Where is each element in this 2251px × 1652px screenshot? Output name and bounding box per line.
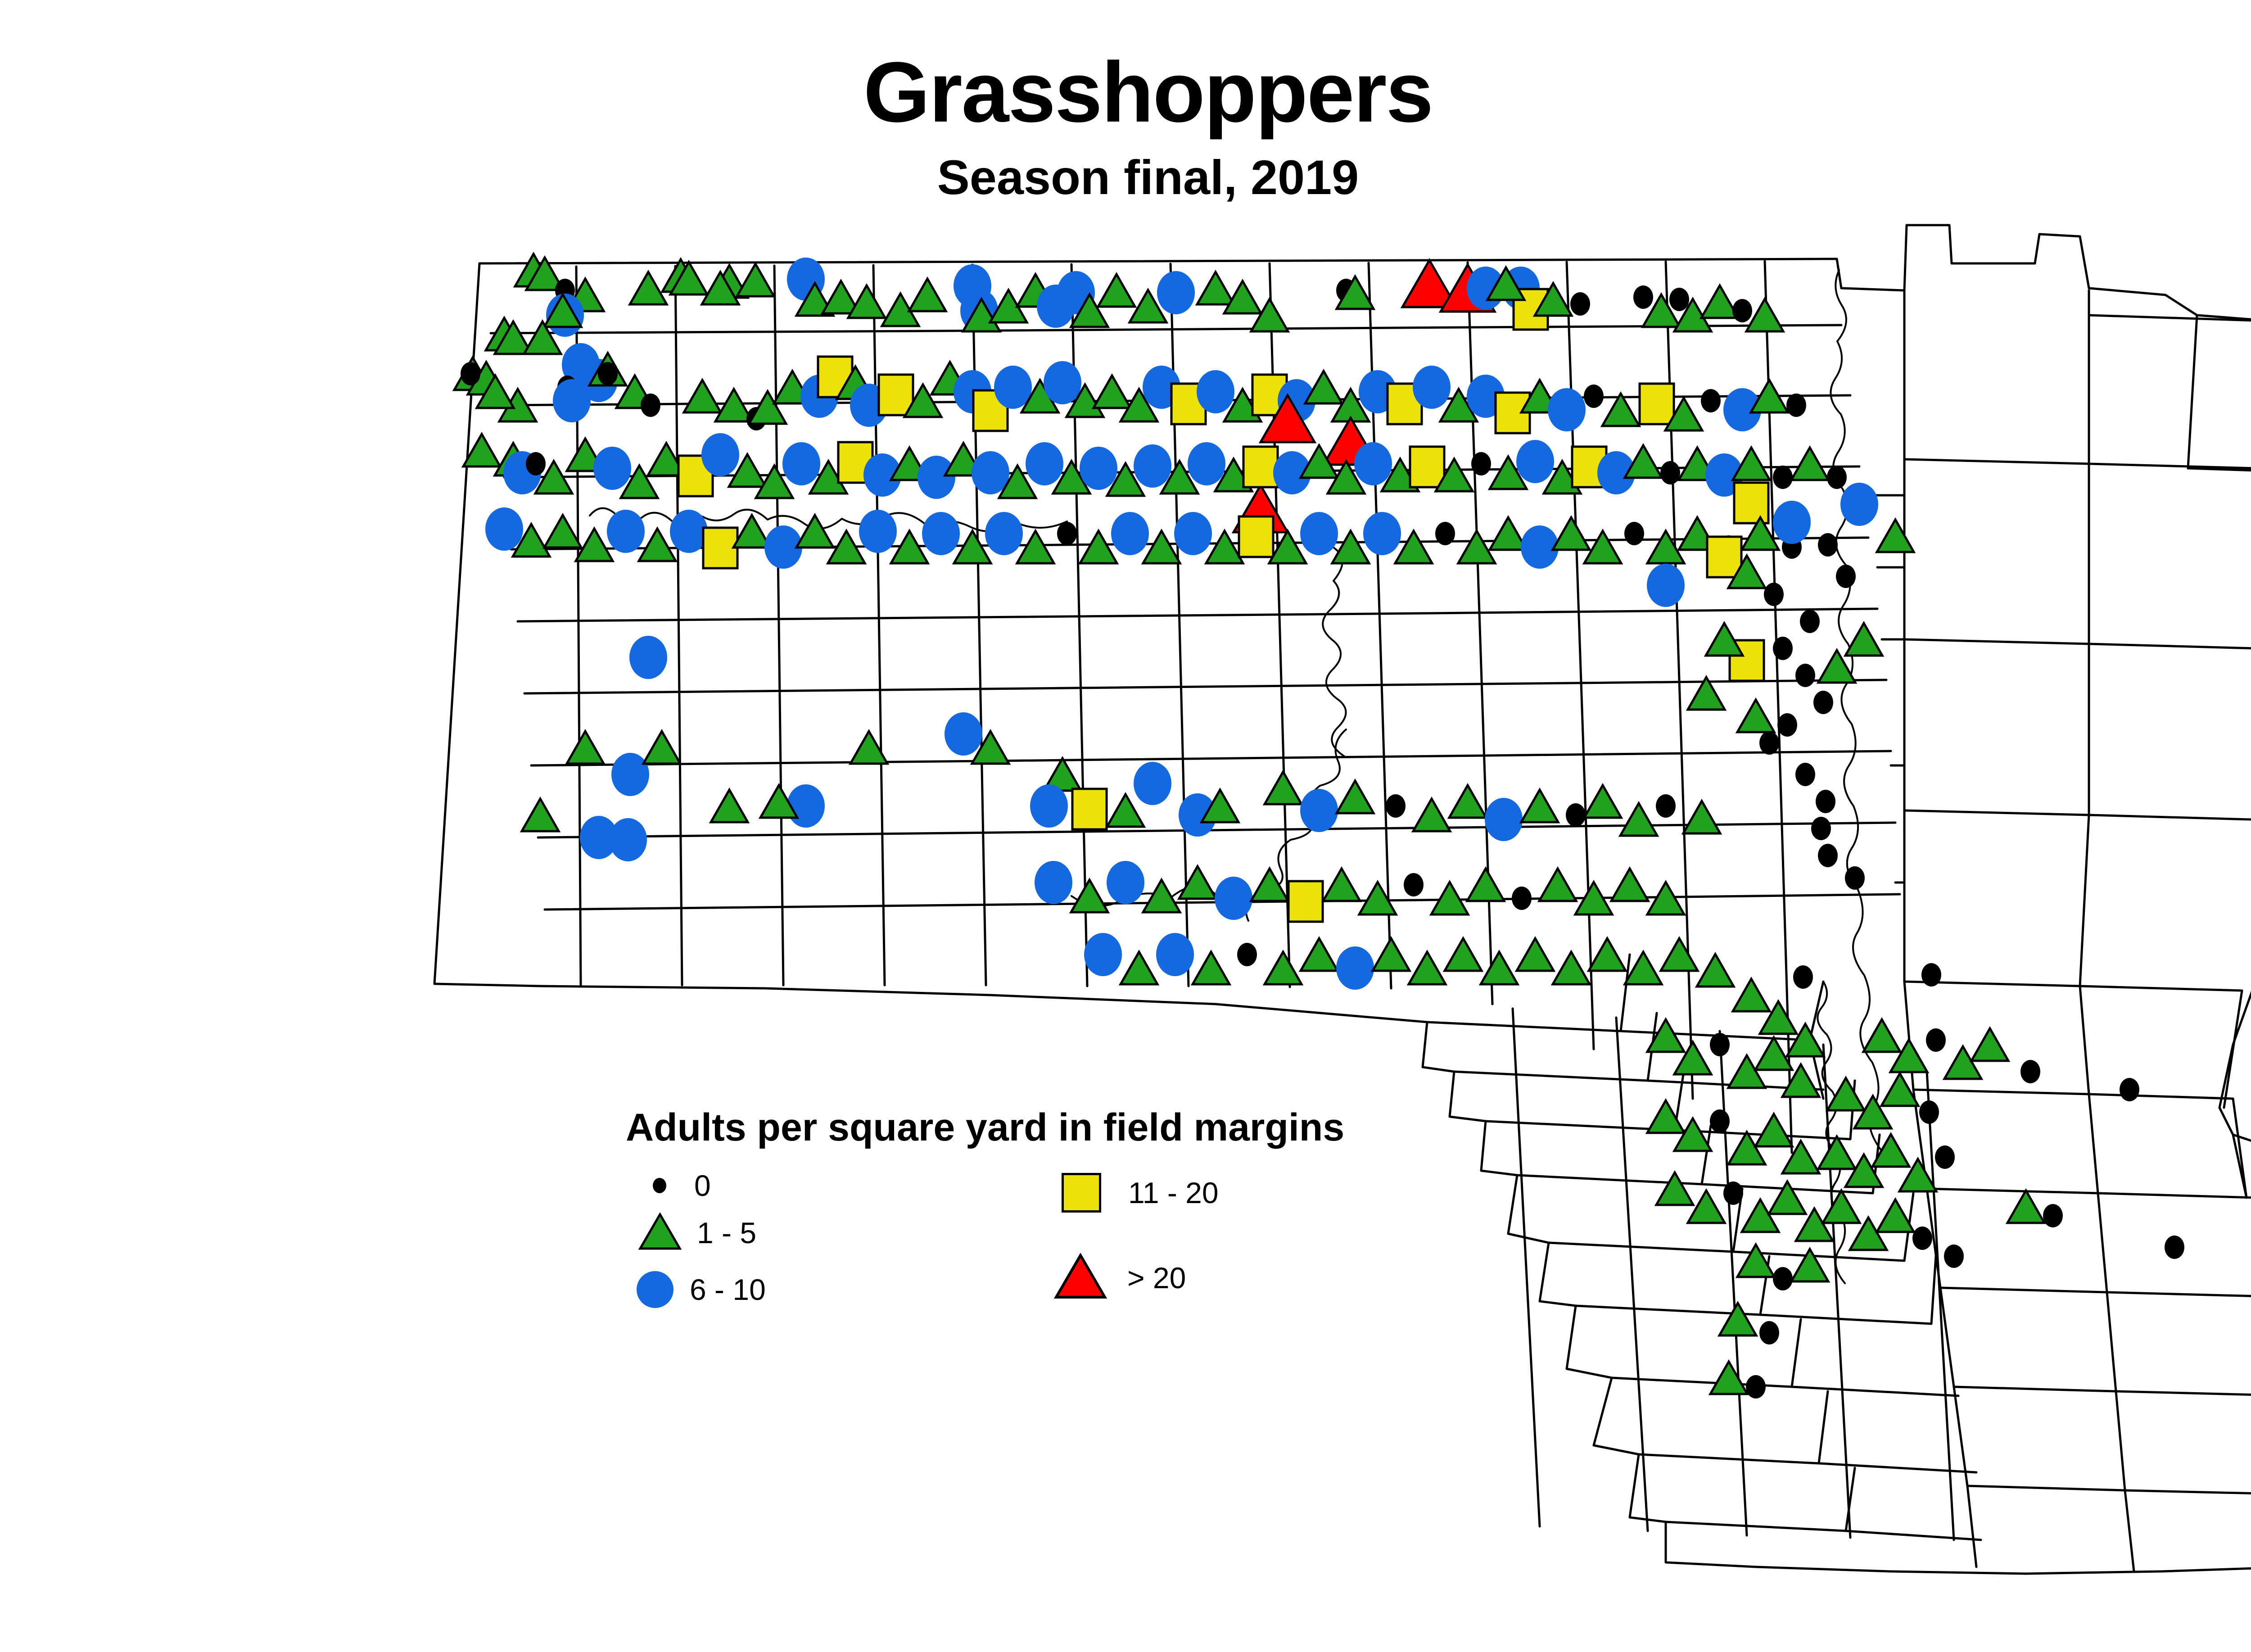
map-marker[interactable] bbox=[796, 515, 833, 548]
map-marker[interactable] bbox=[629, 636, 667, 679]
map-marker[interactable] bbox=[1288, 881, 1323, 922]
map-marker[interactable] bbox=[1539, 869, 1576, 901]
map-marker[interactable] bbox=[1791, 448, 1828, 480]
map-marker[interactable] bbox=[1620, 803, 1657, 836]
map-marker[interactable] bbox=[1156, 933, 1194, 976]
map-marker[interactable] bbox=[1710, 1033, 1730, 1056]
map-marker[interactable] bbox=[643, 731, 680, 764]
map-marker[interactable] bbox=[1337, 781, 1374, 813]
map-marker[interactable] bbox=[1811, 817, 1831, 840]
map-marker[interactable] bbox=[1300, 789, 1338, 832]
legend-title: Adults per square yard in field margins bbox=[626, 1105, 1344, 1150]
map-marker[interactable] bbox=[1553, 952, 1590, 984]
map-marker[interactable] bbox=[1661, 938, 1698, 971]
map-marker[interactable] bbox=[701, 433, 739, 476]
map-marker[interactable] bbox=[1548, 388, 1586, 431]
map-marker[interactable] bbox=[1243, 447, 1278, 487]
map-marker[interactable] bbox=[1584, 385, 1604, 408]
map-marker[interactable] bbox=[711, 790, 748, 822]
map-page: Grasshoppers Season final, 2019 bbox=[0, 0, 2251, 1652]
map-marker[interactable] bbox=[1435, 522, 1455, 545]
map-marker[interactable] bbox=[1404, 873, 1424, 896]
map-marker[interactable] bbox=[1793, 965, 1813, 989]
map-marker[interactable] bbox=[1215, 877, 1252, 920]
map-marker[interactable] bbox=[1773, 1267, 1793, 1290]
map-marker[interactable] bbox=[1827, 466, 1847, 489]
map-marker[interactable] bbox=[1566, 803, 1586, 827]
map-marker[interactable] bbox=[1759, 731, 1779, 755]
map-marker[interactable] bbox=[1354, 442, 1392, 485]
map-marker[interactable] bbox=[1773, 466, 1793, 489]
map-marker[interactable] bbox=[1795, 664, 1815, 687]
map-marker[interactable] bbox=[461, 362, 480, 385]
map-marker[interactable] bbox=[1701, 389, 1721, 412]
map-marker[interactable] bbox=[1719, 1303, 1756, 1335]
map-marker[interactable] bbox=[1237, 943, 1257, 966]
map-marker[interactable] bbox=[1755, 1114, 1792, 1146]
map-marker[interactable] bbox=[1656, 1172, 1693, 1205]
map-marker[interactable] bbox=[1413, 366, 1451, 409]
map-marker[interactable] bbox=[1485, 798, 1523, 841]
map-marker[interactable] bbox=[1517, 938, 1554, 971]
map-marker[interactable] bbox=[2043, 1204, 2063, 1227]
map-marker[interactable] bbox=[1919, 1100, 1939, 1124]
map-marker[interactable] bbox=[611, 753, 649, 796]
map-marker[interactable] bbox=[1737, 700, 1774, 732]
map-marker[interactable] bbox=[1795, 763, 1815, 786]
map-marker[interactable] bbox=[684, 380, 721, 412]
map-marker[interactable] bbox=[1633, 285, 1653, 309]
map-marker[interactable] bbox=[1481, 952, 1518, 984]
map-marker[interactable] bbox=[1143, 880, 1180, 912]
map-marker[interactable] bbox=[1818, 1136, 1855, 1169]
map-marker[interactable] bbox=[2007, 1190, 2044, 1223]
map-marker[interactable] bbox=[1026, 442, 1063, 485]
map-marker[interactable] bbox=[1521, 525, 1559, 569]
map-marker[interactable] bbox=[1877, 520, 1914, 552]
map-marker[interactable] bbox=[1516, 440, 1554, 483]
map-marker[interactable] bbox=[1413, 799, 1450, 831]
map-marker[interactable] bbox=[909, 279, 946, 311]
map-marker[interactable] bbox=[1710, 1109, 1730, 1133]
map-marker[interactable] bbox=[1386, 794, 1406, 818]
black-dot-icon bbox=[653, 1178, 666, 1193]
map-marker[interactable] bbox=[1301, 938, 1338, 971]
legend-item-0[interactable]: 0 bbox=[653, 1168, 711, 1203]
map-marker[interactable] bbox=[1656, 794, 1676, 818]
legend-item-2[interactable]: 6 - 10 bbox=[637, 1271, 766, 1308]
map-marker[interactable] bbox=[1521, 790, 1558, 822]
map-marker[interactable] bbox=[1265, 772, 1302, 804]
map-marker[interactable] bbox=[485, 507, 523, 551]
map-marker[interactable] bbox=[641, 394, 660, 417]
map-marker[interactable] bbox=[1786, 394, 1806, 417]
map-marker[interactable] bbox=[1800, 610, 1820, 633]
map-marker[interactable] bbox=[1845, 866, 1865, 890]
map-marker[interactable] bbox=[630, 272, 667, 304]
map-marker[interactable] bbox=[1733, 979, 1770, 1011]
legend-label-1: 1 - 5 bbox=[697, 1216, 756, 1250]
map-marker[interactable] bbox=[1134, 444, 1171, 488]
map-marker[interactable] bbox=[1409, 952, 1446, 984]
map-marker[interactable] bbox=[1791, 1249, 1828, 1281]
legend-label-3: 11 - 20 bbox=[1128, 1176, 1219, 1210]
legend-label-4: > 20 bbox=[1127, 1261, 1186, 1295]
map-marker[interactable] bbox=[1044, 361, 1081, 404]
map-marker[interactable] bbox=[1410, 447, 1444, 487]
map-marker[interactable] bbox=[526, 452, 546, 475]
map-marker[interactable] bbox=[1863, 1019, 1900, 1052]
legend-item-1[interactable]: 1 - 5 bbox=[638, 1213, 756, 1253]
map-marker[interactable] bbox=[1121, 952, 1157, 984]
legend-label-0: 0 bbox=[694, 1168, 711, 1203]
map-marker[interactable] bbox=[1035, 861, 1072, 904]
map-marker[interactable] bbox=[1589, 938, 1626, 971]
map-marker[interactable] bbox=[1072, 789, 1107, 829]
map-marker[interactable] bbox=[733, 515, 770, 548]
map-marker[interactable] bbox=[985, 512, 1023, 555]
map-marker[interactable] bbox=[2165, 1236, 2184, 1259]
map-marker[interactable] bbox=[1669, 288, 1689, 311]
map-marker[interactable] bbox=[1845, 623, 1882, 656]
map-marker[interactable] bbox=[1359, 882, 1396, 914]
map-marker[interactable] bbox=[1057, 522, 1077, 545]
legend-item-3[interactable]: 11 - 20 bbox=[1062, 1173, 1219, 1213]
map-marker[interactable] bbox=[1697, 954, 1734, 987]
map-marker[interactable] bbox=[1723, 1181, 1743, 1205]
map-marker[interactable] bbox=[1912, 1227, 1932, 1250]
map-marker[interactable] bbox=[1373, 938, 1410, 971]
legend-label-2: 6 - 10 bbox=[690, 1272, 766, 1307]
legend: Adults per square yard in field margins … bbox=[626, 1105, 1571, 1421]
map-marker[interactable] bbox=[1471, 452, 1491, 475]
map-marker[interactable] bbox=[1188, 442, 1225, 485]
map-marker[interactable] bbox=[1769, 1181, 1806, 1214]
map-marker[interactable] bbox=[1080, 447, 1117, 490]
map-marker[interactable] bbox=[567, 731, 604, 764]
map-marker[interactable] bbox=[1732, 299, 1752, 322]
map-marker[interactable] bbox=[787, 784, 825, 828]
map-marker[interactable] bbox=[1734, 483, 1768, 523]
map-marker[interactable] bbox=[1174, 512, 1212, 555]
map-marker[interactable] bbox=[553, 379, 591, 422]
map-marker[interactable] bbox=[1584, 785, 1621, 818]
map-marker[interactable] bbox=[1193, 952, 1229, 984]
map-marker[interactable] bbox=[1640, 384, 1674, 424]
map-marker[interactable] bbox=[922, 512, 960, 555]
map-marker[interactable] bbox=[1935, 1145, 1955, 1169]
map-marker[interactable] bbox=[1944, 1245, 1964, 1268]
map-marker[interactable] bbox=[1707, 537, 1741, 577]
map-marker[interactable] bbox=[1823, 1190, 1860, 1223]
map-marker[interactable] bbox=[737, 264, 774, 296]
blue-circle-icon bbox=[637, 1271, 673, 1308]
map-marker[interactable] bbox=[1445, 938, 1482, 971]
legend-item-4[interactable]: > 20 bbox=[1053, 1253, 1186, 1302]
map-marker[interactable] bbox=[1431, 882, 1468, 914]
map-marker[interactable] bbox=[598, 362, 618, 385]
map-marker[interactable] bbox=[1746, 299, 1783, 331]
map-marker[interactable] bbox=[522, 799, 559, 831]
map-marker[interactable] bbox=[782, 442, 820, 485]
map-marker[interactable] bbox=[918, 456, 955, 499]
red-triangle-icon bbox=[1053, 1253, 1107, 1302]
map-marker[interactable] bbox=[945, 712, 982, 756]
map-marker[interactable] bbox=[1759, 1321, 1779, 1344]
map-marker[interactable] bbox=[1134, 762, 1171, 805]
map-marker[interactable] bbox=[1098, 274, 1135, 307]
map-marker[interactable] bbox=[607, 510, 645, 553]
map-marker[interactable] bbox=[1818, 533, 1838, 557]
map-marker[interactable] bbox=[1777, 713, 1797, 737]
map-marker[interactable] bbox=[1647, 564, 1685, 607]
map-marker[interactable] bbox=[1816, 790, 1835, 813]
map-marker[interactable] bbox=[859, 510, 897, 553]
map-marker[interactable] bbox=[1553, 517, 1590, 550]
map-marker[interactable] bbox=[1265, 952, 1302, 984]
map-marker[interactable] bbox=[1836, 565, 1856, 588]
map-marker[interactable] bbox=[1084, 933, 1122, 976]
map-marker[interactable] bbox=[1157, 271, 1195, 314]
map-marker[interactable] bbox=[1764, 583, 1784, 606]
map-marker[interactable] bbox=[1107, 861, 1144, 904]
map-marker[interactable] bbox=[1683, 801, 1720, 833]
map-marker[interactable] bbox=[1458, 531, 1495, 563]
map-marker[interactable] bbox=[1584, 531, 1621, 563]
map-marker[interactable] bbox=[1449, 785, 1486, 818]
map-marker[interactable] bbox=[1773, 501, 1811, 544]
map-marker[interactable] bbox=[1647, 531, 1684, 563]
map-marker[interactable] bbox=[1773, 637, 1793, 660]
map-marker[interactable] bbox=[2020, 1060, 2040, 1083]
map-marker[interactable] bbox=[1755, 1037, 1792, 1070]
map-marker[interactable] bbox=[1818, 844, 1838, 867]
yellow-square-icon bbox=[1062, 1173, 1101, 1213]
map-marker[interactable] bbox=[2120, 1078, 2139, 1101]
map-marker[interactable] bbox=[670, 510, 708, 553]
map-marker[interactable] bbox=[1111, 512, 1149, 555]
map-marker[interactable] bbox=[1197, 272, 1234, 304]
green-triangle-icon bbox=[638, 1213, 682, 1253]
map-marker[interactable] bbox=[1921, 963, 1941, 987]
map-marker[interactable] bbox=[1710, 1362, 1747, 1394]
map-marker[interactable] bbox=[1336, 946, 1374, 990]
map-marker[interactable] bbox=[1363, 512, 1401, 555]
map-marker[interactable] bbox=[1239, 516, 1273, 557]
map-marker[interactable] bbox=[1094, 376, 1130, 408]
map-marker[interactable] bbox=[1323, 869, 1360, 901]
map-marker[interactable] bbox=[1611, 869, 1648, 901]
map-marker[interactable] bbox=[1512, 887, 1532, 910]
map-marker[interactable] bbox=[593, 447, 631, 490]
map-marker[interactable] bbox=[1624, 522, 1644, 545]
map-marker[interactable] bbox=[1300, 512, 1338, 555]
map-marker[interactable] bbox=[544, 515, 581, 548]
map-marker[interactable] bbox=[1877, 1199, 1914, 1232]
map-marker[interactable] bbox=[1971, 1028, 2008, 1061]
map-marker[interactable] bbox=[609, 818, 647, 861]
map-marker[interactable] bbox=[1030, 784, 1068, 828]
map-marker[interactable] bbox=[1926, 1028, 1946, 1052]
map-marker[interactable] bbox=[1107, 794, 1144, 827]
map-marker[interactable] bbox=[1071, 880, 1108, 912]
map-marker[interactable] bbox=[1197, 370, 1234, 413]
map-marker[interactable] bbox=[1840, 483, 1878, 526]
map-marker[interactable] bbox=[1467, 869, 1504, 901]
map-marker[interactable] bbox=[1570, 292, 1590, 316]
map-marker[interactable] bbox=[1688, 1190, 1725, 1223]
map-marker[interactable] bbox=[1813, 691, 1833, 714]
map-marker[interactable] bbox=[1746, 1375, 1766, 1399]
